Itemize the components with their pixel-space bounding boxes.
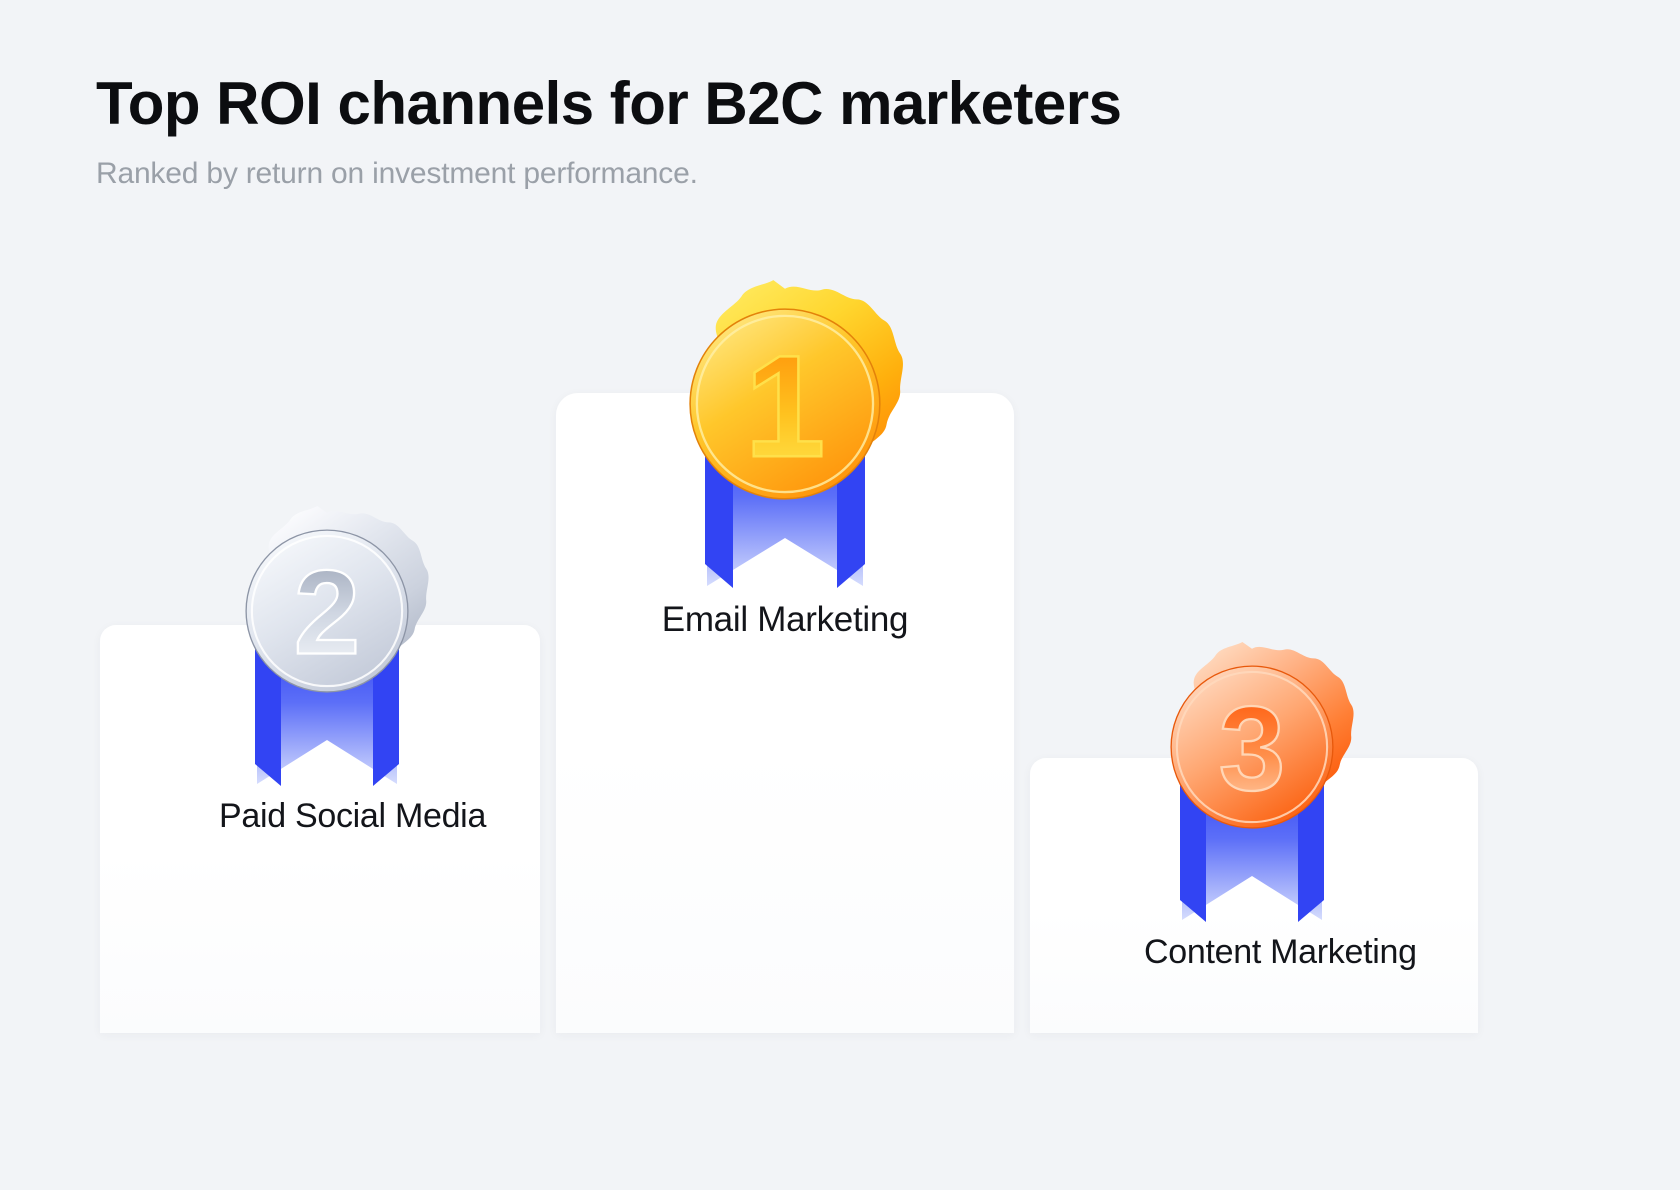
page-subtitle: Ranked by return on investment performan… (96, 157, 1122, 191)
medal-artwork-rank-3: 3 (1144, 639, 1360, 929)
medal-artwork-rank-1: 1 (659, 278, 911, 596)
rank-number-1: 1 (745, 325, 826, 487)
bronze-medal-icon: 3 (1144, 639, 1360, 855)
medal-artwork-rank-2: 2 (219, 503, 435, 793)
silver-medal-icon: 2 (219, 503, 435, 719)
gold-medal-icon: 1 (659, 278, 911, 530)
infographic-canvas: Top ROI channels for B2C marketers Ranke… (0, 0, 1680, 1190)
podium-entry-rank-3: 3 Content Marketing (1144, 639, 1360, 972)
podium-entry-rank-2: 2 Paid Social Media (219, 503, 435, 836)
podium-entry-rank-1: 1 Email Marketing (659, 278, 911, 640)
page-title: Top ROI channels for B2C marketers (96, 72, 1122, 135)
rank-number-3: 3 (1219, 682, 1285, 815)
header: Top ROI channels for B2C marketers Ranke… (96, 72, 1122, 191)
rank-number-2: 2 (294, 546, 360, 679)
